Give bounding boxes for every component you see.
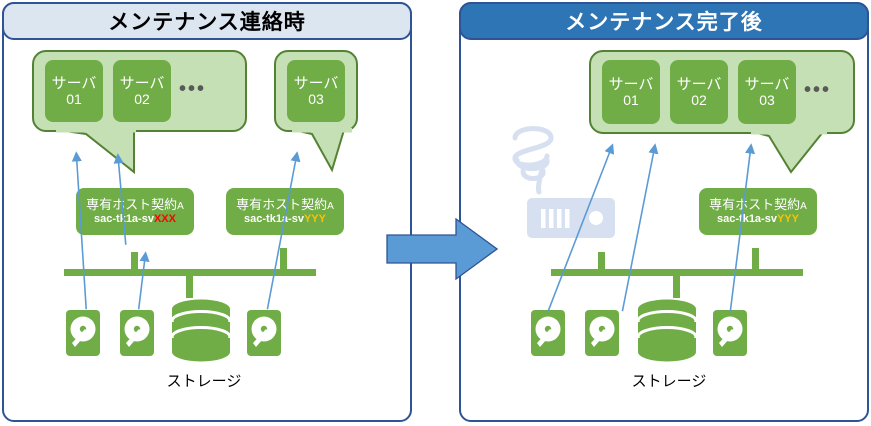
server-card-03-after-name: サーバ	[745, 77, 790, 93]
server-bubble-group-c: サーバ 01 サーバ 02 サーバ 03 •••	[589, 50, 855, 134]
server-card-03[interactable]: サーバ 03	[285, 58, 347, 124]
disk-icon-2-after	[585, 310, 619, 356]
panel-maintenance-complete: メンテナンス完了後 サーバ 01 サーバ 02 サーバ 03 •••	[459, 2, 869, 422]
server-card-02-after-name: サーバ	[677, 77, 722, 93]
contract-box-yyy-code: sac-tk1a-svYYY	[244, 213, 326, 227]
contract-box-xxx[interactable]: 専有ホスト契約A sac-tk1a-svXXX	[76, 188, 194, 235]
server-ellipsis-icon-after: •••	[804, 79, 831, 106]
bus-stub-up-1-after	[598, 252, 605, 271]
server-card-01-after-num: 01	[623, 93, 639, 108]
disk-icon-3	[247, 310, 281, 356]
contract-box-yyy-after-title: 専有ホスト契約A	[709, 197, 807, 213]
contract-box-xxx-code: sac-tk1a-svXXX	[94, 213, 176, 227]
server-card-02-name: サーバ	[120, 76, 165, 92]
server-card-02-after[interactable]: サーバ 02	[668, 58, 730, 126]
panel-after-header: メンテナンス完了後	[459, 2, 869, 40]
server-card-01[interactable]: サーバ 01	[43, 58, 105, 124]
server-card-02[interactable]: サーバ 02	[111, 58, 173, 124]
contract-box-yyy-title: 専有ホスト契約A	[236, 197, 334, 213]
server-card-02-after-num: 02	[691, 93, 707, 108]
panel-before-title: メンテナンス連絡時	[108, 6, 306, 36]
contract-box-yyy-after-code: sac-tk1a-svYYY	[717, 213, 799, 227]
server-card-03-after-num: 03	[759, 93, 775, 108]
bus-stub-up-2-after	[752, 248, 759, 271]
server-bubble-group-b: サーバ 03	[274, 50, 358, 132]
bubble-tail-b	[292, 128, 352, 174]
bus-stub-down	[186, 274, 193, 298]
bubble-tail-c	[751, 130, 827, 176]
transition-right-arrow-icon	[386, 218, 498, 280]
panel-before-body: サーバ 01 サーバ 02 ••• サーバ 03	[4, 40, 410, 422]
panel-after-body: サーバ 01 サーバ 02 サーバ 03 •••	[461, 40, 867, 422]
storage-label-after: ストレージ	[579, 370, 759, 391]
disk-icon-3-after	[713, 310, 747, 356]
panel-maintenance-notice: メンテナンス連絡時 サーバ 01 サーバ 02 •••	[2, 2, 412, 422]
disk-icon-1-after	[531, 310, 565, 356]
server-card-03-name: サーバ	[294, 76, 339, 92]
storage-label-before: ストレージ	[114, 370, 294, 391]
server-card-01-name: サーバ	[52, 76, 97, 92]
contract-box-xxx-title: 専有ホスト契約A	[86, 197, 184, 213]
server-card-03-num: 03	[308, 92, 324, 107]
disk-icon-1	[66, 310, 100, 356]
bus-stub-up-2	[280, 248, 287, 271]
panel-before-header: メンテナンス連絡時	[2, 2, 412, 40]
database-cylinder-icon	[170, 298, 232, 364]
disk-icon-2	[120, 310, 154, 356]
bubble-tail-a	[56, 128, 136, 176]
server-bubble-group-a: サーバ 01 サーバ 02 •••	[32, 50, 247, 132]
bus-stub-down-after	[673, 274, 680, 298]
server-card-01-after[interactable]: サーバ 01	[600, 58, 662, 126]
decommissioned-server-icon	[499, 116, 627, 242]
server-card-01-after-name: サーバ	[609, 77, 654, 93]
panel-after-title: メンテナンス完了後	[565, 6, 763, 36]
bus-stub-up-1	[131, 252, 138, 271]
contract-box-yyy-after[interactable]: 専有ホスト契約A sac-tk1a-svYYY	[699, 188, 817, 235]
server-card-03-after[interactable]: サーバ 03	[736, 58, 798, 126]
contract-box-yyy[interactable]: 専有ホスト契約A sac-tk1a-svYYY	[226, 188, 344, 235]
server-card-02-num: 02	[134, 92, 150, 107]
server-ellipsis-icon: •••	[179, 78, 206, 105]
server-card-01-num: 01	[66, 92, 82, 107]
database-cylinder-icon-after	[636, 298, 698, 364]
